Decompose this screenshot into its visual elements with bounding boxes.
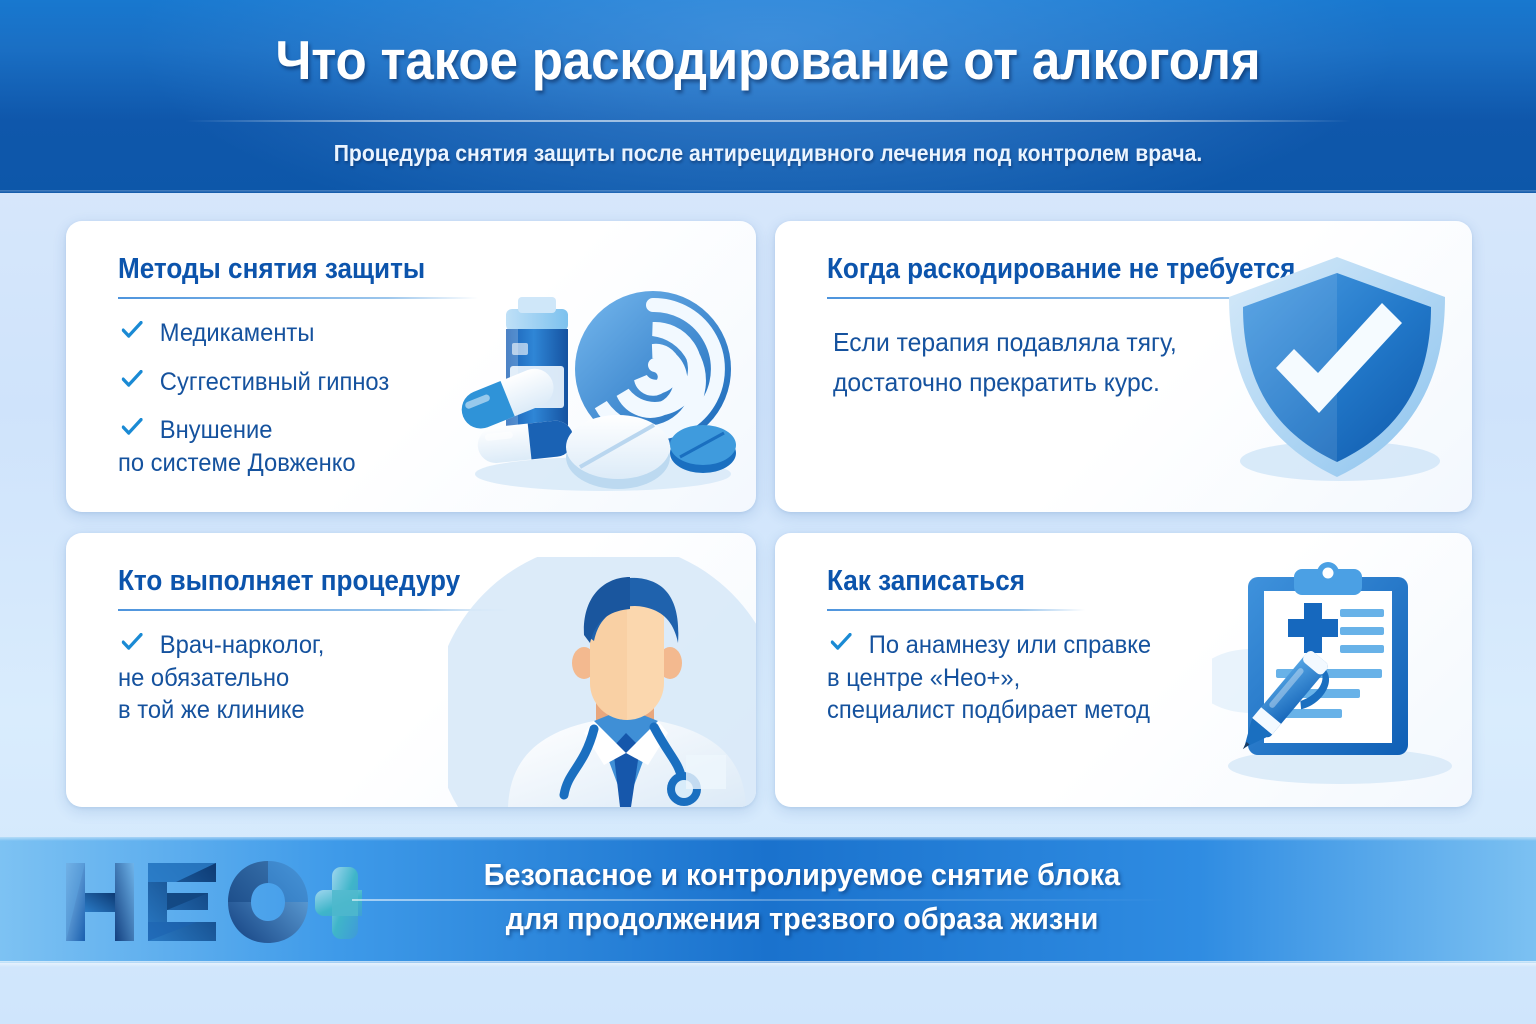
check-icon	[831, 633, 852, 651]
card-heading: Кто выполняет процедуру	[118, 565, 460, 598]
footer-banner: Безопасное и контролируемое снятие блока…	[0, 837, 1536, 963]
infographic-poster: Что такое раскодирование от алкоголя Про…	[0, 0, 1536, 1024]
heading-underline	[827, 297, 1372, 299]
card-how-to-book: Как записаться По анамнезу или справке в…	[775, 533, 1472, 807]
bullet-list: Врач-нарколог, не обязательно в той же к…	[118, 629, 335, 743]
list-item-label: По анамнезу или справке	[869, 629, 1151, 662]
paragraph-line: Если терапия подавляла тягу,	[833, 323, 1177, 363]
card-methods: Методы снятия защиты Медикаменты Суггест…	[66, 221, 756, 512]
list-item-label-cont: в той же клинике	[118, 694, 324, 727]
footer-tagline-line: Безопасное и контролируемое снятие блока	[384, 853, 1221, 897]
bullet-list: Медикаменты Суггестивный гипноз Внушение…	[118, 317, 404, 495]
footer-tagline: Безопасное и контролируемое снятие блока…	[384, 853, 1221, 941]
check-icon	[122, 633, 143, 651]
check-icon	[122, 418, 143, 436]
pills-and-spiral-icon	[448, 271, 748, 501]
check-icon	[122, 370, 143, 388]
list-item-label: Суггестивный гипноз	[160, 368, 389, 396]
list-item-label-cont: специалист подбирает метод	[827, 694, 1151, 727]
list-item: По анамнезу или справке в центре «Нео+»,…	[827, 629, 1151, 727]
bullet-list: По анамнезу или справке в центре «Нео+»,…	[827, 629, 1168, 743]
list-item-label: Медикаменты	[160, 319, 315, 347]
list-item-label-cont: в центре «Нео+»,	[827, 662, 1151, 695]
card-heading: Методы снятия защиты	[118, 253, 425, 286]
page-subtitle: Процедура снятия защиты после антирециди…	[61, 140, 1474, 167]
paragraph-line: достаточно прекратить курс.	[833, 363, 1177, 403]
doctor-icon	[448, 557, 756, 807]
list-item: Врач-нарколог, не обязательно в той же к…	[118, 629, 324, 727]
list-item-label-cont: не обязательно	[118, 662, 324, 695]
header-banner: Что такое раскодирование от алкоголя Про…	[0, 0, 1536, 193]
card-heading: Когда раскодирование не требуется	[827, 253, 1295, 286]
page-title: Что такое раскодирование от алкоголя	[54, 28, 1482, 92]
list-item: Внушение по системе Довженко	[118, 414, 389, 479]
card-paragraph: Если терапия подавляла тягу, достаточно …	[833, 323, 1177, 402]
neo-plus-logo	[62, 853, 362, 948]
heading-underline	[827, 609, 1085, 611]
list-item-label-cont: по системе Довженко	[118, 447, 389, 480]
card-not-required: Когда раскодирование не требуется Если т…	[775, 221, 1472, 512]
list-item: Медикаменты	[118, 317, 389, 350]
header-divider	[185, 120, 1351, 122]
clipboard-pen-icon	[1212, 561, 1462, 791]
heading-underline	[118, 297, 478, 299]
list-item: Суггестивный гипноз	[118, 366, 389, 399]
footer-tagline-line: для продолжения трезвого образа жизни	[384, 897, 1221, 941]
check-icon	[122, 321, 143, 339]
card-who-performs: Кто выполняет процедуру Врач-нарколог, н…	[66, 533, 756, 807]
heading-underline	[118, 609, 513, 611]
card-heading: Как записаться	[827, 565, 1025, 598]
list-item-label: Внушение	[160, 414, 389, 447]
list-item-label: Врач-нарколог,	[160, 629, 325, 662]
